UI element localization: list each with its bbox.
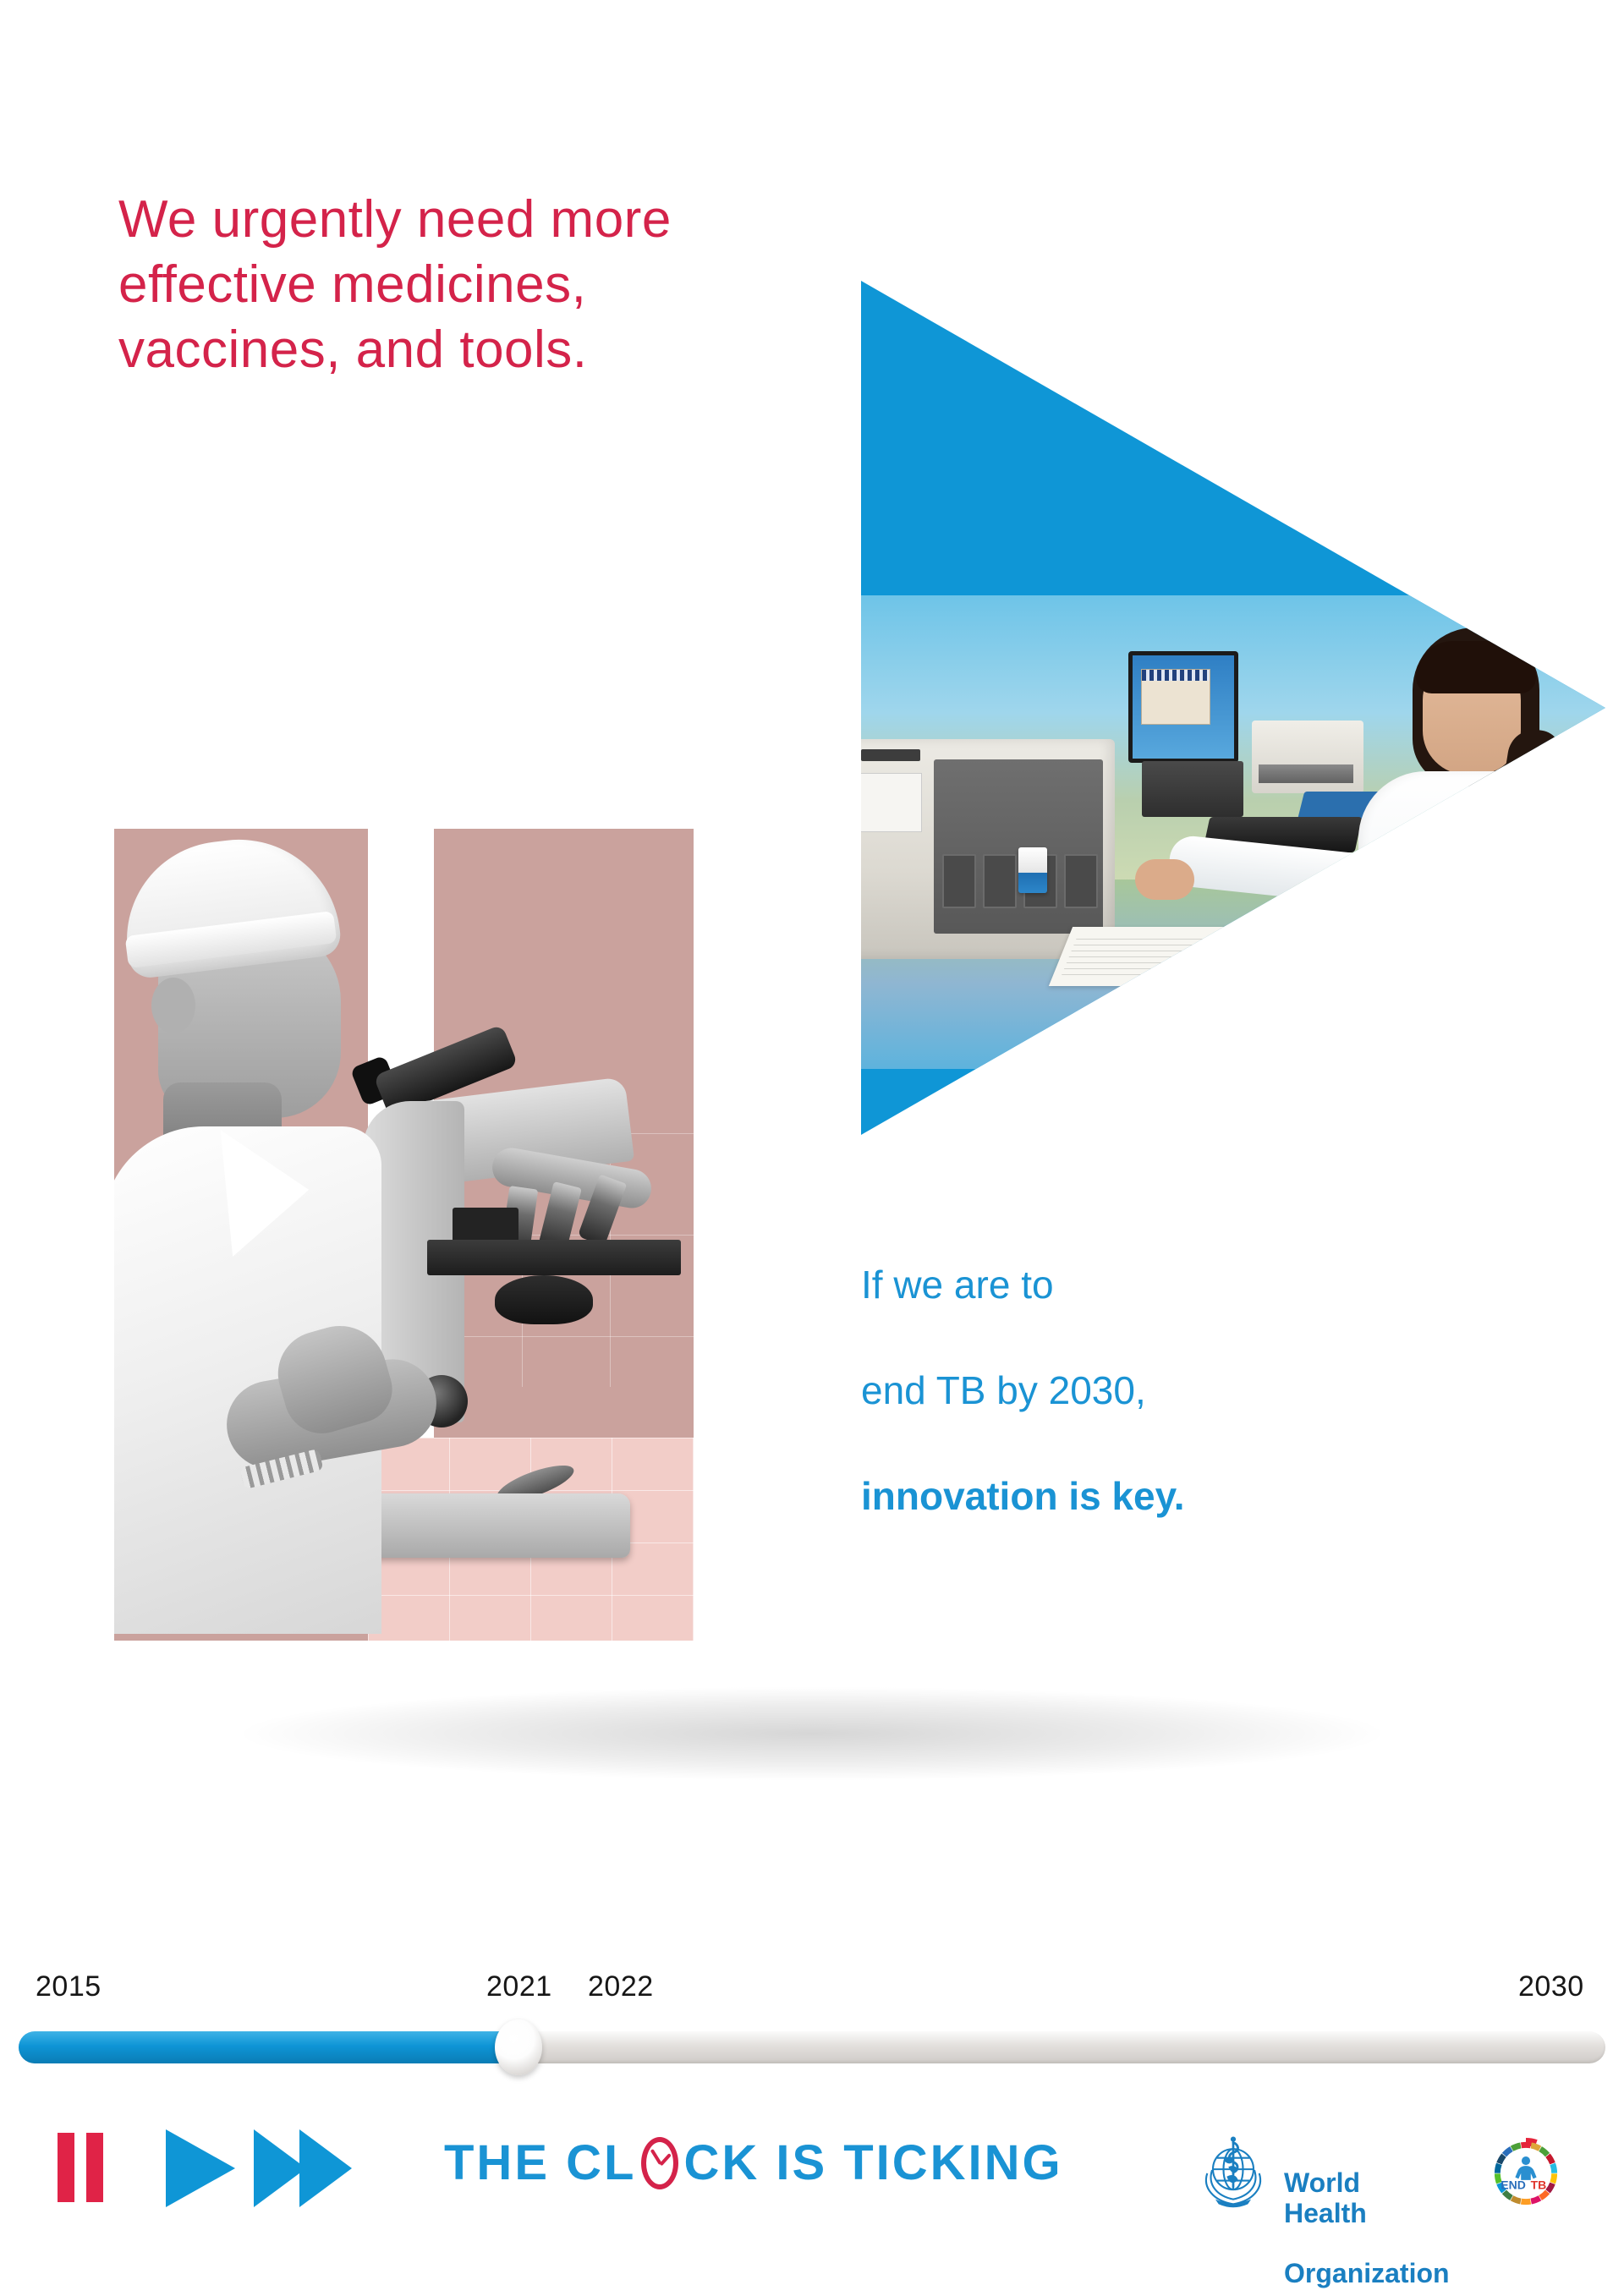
tagline-text-after: CK IS TICKING xyxy=(683,2134,1062,2191)
who-wordmark: World Health Organization xyxy=(1284,2138,1450,2289)
test-cartridge xyxy=(1018,847,1047,893)
play-icon[interactable] xyxy=(166,2129,235,2207)
software-window xyxy=(1141,669,1210,725)
timeline-label-2022: 2022 xyxy=(588,1970,654,2003)
page-headline: We urgently need more effective medicine… xyxy=(118,188,812,383)
fast-forward-icon[interactable] xyxy=(254,2129,355,2207)
computer-monitor xyxy=(1128,651,1238,763)
who-line-2: Organization xyxy=(1284,2258,1450,2288)
poster-canvas: We urgently need more effective medicine… xyxy=(0,0,1624,2296)
slider-track[interactable] xyxy=(19,2031,1605,2063)
timeline-labels: 2015 2021 2022 2030 xyxy=(0,1970,1624,2011)
timeline-label-2030: 2030 xyxy=(1518,1970,1584,2003)
statement-line-1: If we are to xyxy=(861,1263,1054,1307)
technician-fringe xyxy=(1416,641,1536,693)
slider-progress-fill xyxy=(19,2031,518,2063)
microscope-worker-figure xyxy=(114,829,419,1641)
pc-tower xyxy=(1142,761,1243,817)
triangle-photo-lab-technician xyxy=(861,281,1605,1135)
timeline-label-2021: 2021 xyxy=(486,1970,552,2003)
lab-scene xyxy=(861,595,1605,1069)
end-tb-logo: END TB xyxy=(1479,2126,1573,2221)
statement-line-2: end TB by 2030, xyxy=(861,1368,1146,1412)
pause-icon[interactable] xyxy=(58,2133,105,2202)
campaign-tagline: THE CL CK IS TICKING xyxy=(444,2134,1063,2191)
cartridge-bay xyxy=(1064,854,1098,908)
footer-bar: THE CL CK IS TICKING xyxy=(0,2114,1624,2266)
machine-vent-slot xyxy=(861,749,920,761)
ffwd-triangle-2 xyxy=(299,2129,352,2207)
microscope-photo xyxy=(114,829,694,1641)
tagline-text-before: THE CL xyxy=(444,2134,636,2191)
statement-text: If we are to end TB by 2030, innovation … xyxy=(861,1205,1504,1522)
who-logo: World Health Organization xyxy=(1193,2131,1446,2216)
microscope-condenser xyxy=(495,1275,593,1324)
worker-ear xyxy=(151,978,195,1033)
cartridge-bay xyxy=(983,854,1017,908)
monitor-screen xyxy=(1133,655,1234,759)
who-line-1: World Health xyxy=(1284,2167,1367,2228)
endtb-tb-text: TB xyxy=(1531,2178,1547,2192)
paper-logbook xyxy=(1049,927,1292,986)
technician-lab-coat xyxy=(1358,771,1605,1076)
endtb-end-text: END xyxy=(1501,2178,1526,2192)
pause-bar-right xyxy=(86,2133,103,2202)
content-drop-shadow xyxy=(93,1670,1531,1797)
clock-icon xyxy=(639,2135,681,2191)
who-emblem-icon xyxy=(1193,2131,1274,2212)
genexpert-machine xyxy=(861,739,1115,959)
slider-thumb[interactable] xyxy=(495,2019,542,2075)
timeline-label-2015: 2015 xyxy=(36,1970,101,2003)
software-window-titlebar xyxy=(1142,670,1210,681)
lab-technician-figure xyxy=(1335,619,1605,1076)
microscope-stage xyxy=(427,1240,681,1275)
machine-label xyxy=(861,773,922,832)
cartridge-bay xyxy=(942,854,976,908)
logbook-lines xyxy=(1060,934,1281,979)
pause-bar-left xyxy=(58,2133,74,2202)
statement-line-3: innovation is key. xyxy=(861,1474,1185,1518)
timeline-slider[interactable]: 2015 2021 2022 2030 xyxy=(0,1970,1624,2080)
ffwd-triangle-1 xyxy=(254,2129,306,2207)
technician-hand xyxy=(1135,859,1194,900)
machine-front-panel xyxy=(934,759,1103,934)
